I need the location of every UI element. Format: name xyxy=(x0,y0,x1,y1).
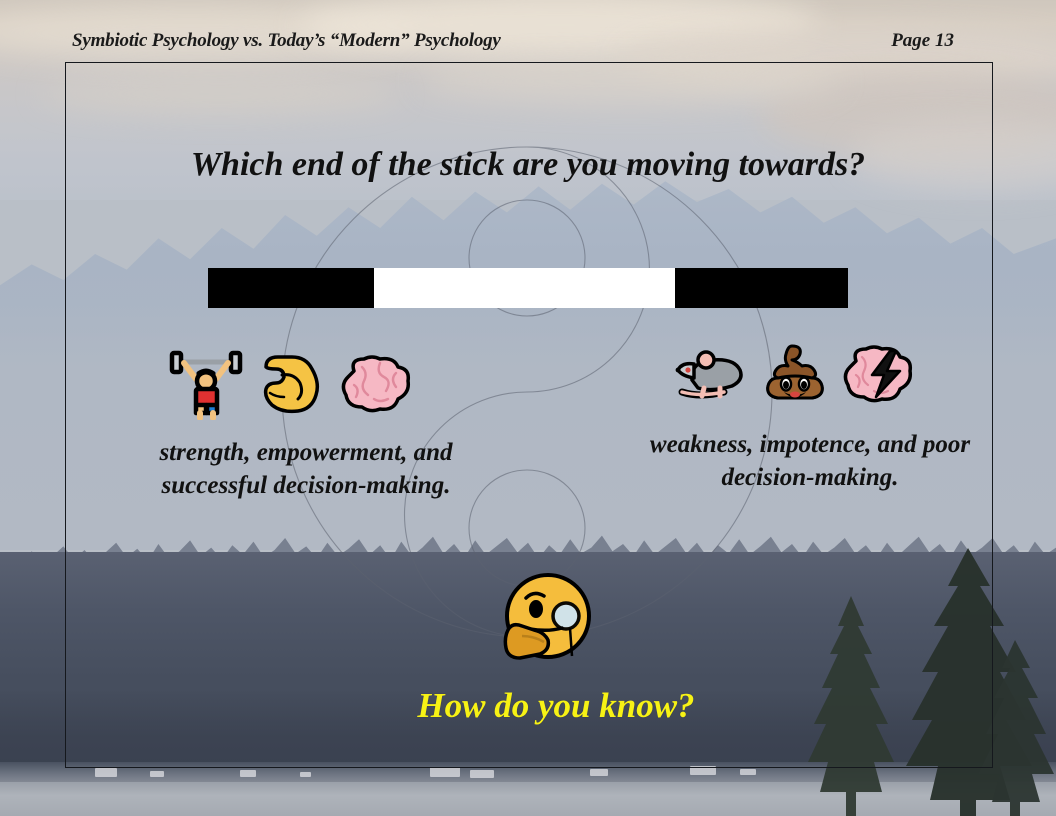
cloud-shape xyxy=(40,74,400,114)
flexed-biceps-emoji xyxy=(258,353,326,415)
page-header: Symbiotic Psychology vs. Today’s “Modern… xyxy=(0,30,1056,60)
background-water xyxy=(0,782,1056,816)
shore-building xyxy=(590,769,608,776)
stick-right-black-end xyxy=(675,268,848,308)
shore-building xyxy=(240,770,256,777)
stick-left-black-end xyxy=(208,268,374,308)
page-number: Page 13 xyxy=(891,30,954,52)
header-title: Symbiotic Psychology vs. Today’s “Modern… xyxy=(72,30,501,52)
brain-emoji xyxy=(340,355,412,413)
background-haze xyxy=(0,300,1056,550)
right-caption: weakness, impotence, and poor decision-m… xyxy=(630,428,990,494)
shore-building xyxy=(150,771,164,777)
slide-title: Which end of the stick are you moving to… xyxy=(178,142,878,189)
shore-building xyxy=(95,768,117,777)
pile-of-poo-emoji xyxy=(762,344,828,404)
shore-building xyxy=(740,769,756,775)
left-caption: strength, empowerment, and successful de… xyxy=(106,436,506,502)
shore-building xyxy=(430,767,460,777)
slide-canvas: Symbiotic Psychology vs. Today’s “Modern… xyxy=(0,0,1056,816)
stick-middle-white xyxy=(374,268,675,308)
footer-question: How do you know? xyxy=(306,686,806,726)
left-icon-group xyxy=(168,348,412,420)
brain-lightning-emoji xyxy=(842,345,914,403)
cloud-shape xyxy=(850,120,1056,190)
weightlifter-emoji xyxy=(168,348,244,420)
background-shoreline xyxy=(0,762,1056,786)
shore-building xyxy=(470,770,494,778)
foreground-conifer-tree xyxy=(960,640,1056,816)
right-icon-group xyxy=(672,344,914,404)
cloud-shape xyxy=(420,58,840,104)
two-ended-stick-bar xyxy=(208,268,848,308)
shore-building xyxy=(690,766,716,775)
thinking-face-monocle-emoji xyxy=(500,572,596,664)
rat-emoji xyxy=(672,346,748,402)
background-treeline-ridge xyxy=(0,520,1056,580)
foreground-conifer-tree xyxy=(868,548,1056,816)
shore-building xyxy=(300,772,311,777)
